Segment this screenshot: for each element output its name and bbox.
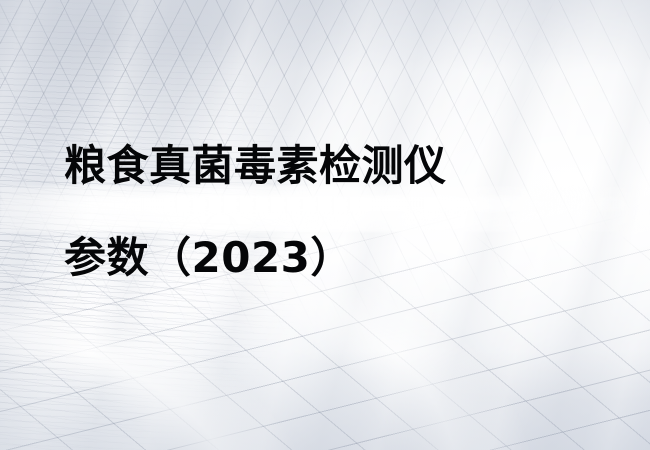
title-banner: 粮食真菌毒素检测仪 参数（2023） xyxy=(0,0,650,450)
banner-title-line-2: 参数（2023） xyxy=(64,234,447,282)
banner-title-line-1: 粮食真菌毒素检测仪 xyxy=(64,142,447,190)
banner-title-block: 粮食真菌毒素检测仪 参数（2023） xyxy=(64,142,447,282)
